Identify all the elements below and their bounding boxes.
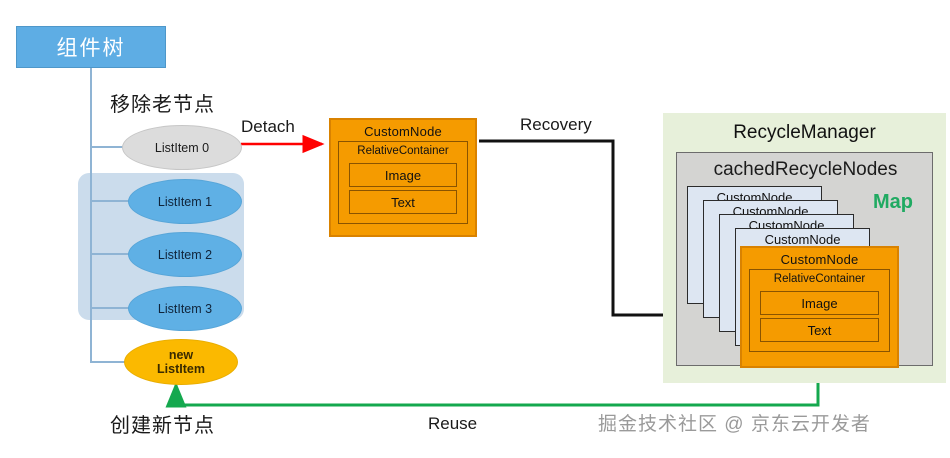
cached-node-card-title: CustomNode [736,229,869,247]
recovery-label: Recovery [520,115,592,135]
new-list-item-line1: new [169,348,193,362]
relative-container: RelativeContainer Image Text [338,141,468,224]
custom-node-title: CustomNode [742,248,897,269]
relative-container: RelativeContainer Image Text [749,269,890,352]
new-list-item-node[interactable]: new ListItem [124,339,238,385]
detached-custom-node[interactable]: CustomNode RelativeContainer Image Text [329,118,477,237]
tree-trunk [90,66,92,362]
detach-label: Detach [241,117,295,137]
relative-container-title: RelativeContainer [750,273,889,288]
remove-old-node-label: 移除老节点 [110,88,215,117]
diagram-canvas: 组件树 移除老节点 ListItem 0 ListItem 1 ListItem… [0,0,950,458]
tree-branch-1 [90,200,130,202]
relative-container-title: RelativeContainer [339,145,467,160]
list-item-2-node[interactable]: ListItem 2 [128,232,242,277]
image-slot: Image [760,291,879,315]
new-list-item-line2: ListItem [157,362,205,376]
list-item-1-node[interactable]: ListItem 1 [128,179,242,224]
text-slot: Text [760,318,879,342]
component-tree-header: 组件树 [16,26,166,68]
list-item-3-node[interactable]: ListItem 3 [128,286,242,331]
tree-branch-2 [90,253,130,255]
reuse-label: Reuse [428,414,477,434]
map-label: Map [873,191,913,214]
tree-branch-3 [90,307,130,309]
image-slot: Image [349,163,457,187]
create-new-node-label: 创建新节点 [110,409,215,438]
recycle-manager-title: RecycleManager [663,122,946,144]
cached-custom-node[interactable]: CustomNode RelativeContainer Image Text [740,246,899,368]
cached-recycle-nodes-title: cachedRecycleNodes [677,159,934,181]
watermark: 掘金技术社区 @ 京东云开发者 [598,409,871,436]
custom-node-title: CustomNode [331,120,475,141]
list-item-0-node[interactable]: ListItem 0 [122,125,242,170]
text-slot: Text [349,190,457,214]
